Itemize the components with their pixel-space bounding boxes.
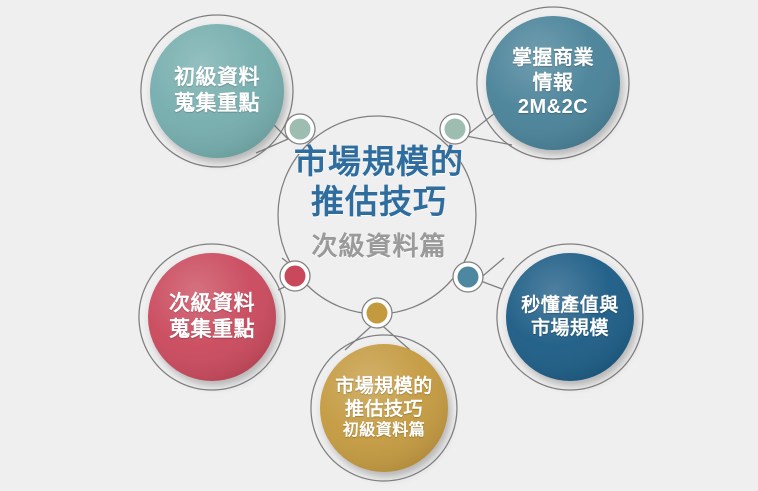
disc-right[interactable] [506,253,634,381]
node-top-right[interactable] [440,114,470,144]
disc-left[interactable] [148,253,276,381]
disc-bottom[interactable] [320,344,448,472]
node-left[interactable] [280,261,310,291]
node-bottom[interactable] [362,298,392,328]
connector-node-group [280,114,483,328]
infographic-diagram: 市場規模的 推估技巧 次級資料篇 初級資料 蒐集重點 掌握商業 情報 2M&2C… [0,0,758,491]
node-right[interactable] [453,262,483,292]
node-top-left[interactable] [285,114,315,144]
disc-topleft[interactable] [150,24,284,158]
diagram-canvas [0,0,758,491]
disc-topright[interactable] [486,16,620,150]
